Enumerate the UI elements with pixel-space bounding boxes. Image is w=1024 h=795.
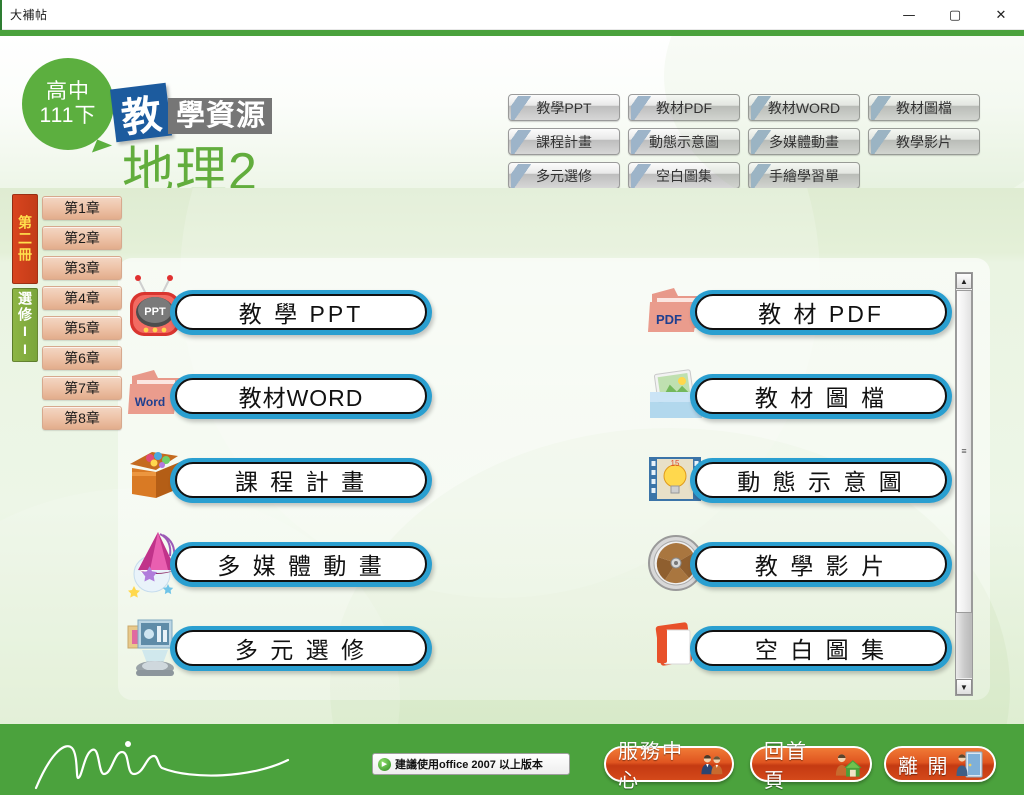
resource-item-animated-diagram[interactable]: 15 動 態 示 意 圖 <box>640 438 950 522</box>
quick-link-worksheet[interactable]: 手繪學習單 <box>748 162 860 188</box>
resource-pill: 空 白 圖 集 <box>690 626 952 671</box>
resource-pill: 教 材 PDF <box>690 290 952 335</box>
svg-text:PPT: PPT <box>144 306 166 318</box>
resource-label: 空 白 圖 集 <box>695 630 947 666</box>
maximize-button[interactable]: ▢ <box>932 0 978 30</box>
scroll-down-button[interactable]: ▼ <box>956 679 972 695</box>
resource-item-multimedia-animation[interactable]: 多 媒 體 動 畫 <box>120 522 430 606</box>
quick-link-elective[interactable]: 多元選修 <box>508 162 620 188</box>
resource-label: 教 學 PPT <box>175 294 427 330</box>
page-title: 地理2 <box>122 146 258 188</box>
sidebar-item-chapter-1[interactable]: 第1章 <box>42 196 122 220</box>
resource-row-2: Word 教材WORD <box>120 354 950 438</box>
slash-icon <box>871 96 893 120</box>
resource-label: 多 元 選 修 <box>175 630 427 666</box>
home-label: 回首頁 <box>764 735 828 793</box>
titlebar-accent <box>0 0 2 30</box>
resource-pill: 教 材 圖 檔 <box>690 374 952 419</box>
home-icon <box>833 749 862 779</box>
resource-button-grid: PPT 教 學 PPT PDF <box>120 270 950 690</box>
sidebar-item-chapter-5[interactable]: 第5章 <box>42 316 122 340</box>
quick-link-multimedia[interactable]: 多媒體動畫 <box>748 128 860 155</box>
nani-logo <box>22 734 322 790</box>
slash-icon <box>871 130 893 154</box>
sidebar-volume-tab-elective[interactable]: 選修II <box>12 288 38 362</box>
quick-links-row-1: 教學PPT 教材PDF 教材WORD 教材圖檔 <box>508 94 988 121</box>
quick-link-word[interactable]: 教材WORD <box>748 94 860 121</box>
minimize-button[interactable]: — <box>886 0 932 30</box>
window-titlebar: 大補帖 — ▢ ✕ <box>0 0 1024 30</box>
slash-icon <box>631 164 653 188</box>
resource-item-teaching-pdf[interactable]: PDF 教 材 PDF <box>640 270 950 354</box>
resource-label: 教 學 影 片 <box>695 546 947 582</box>
resource-pill: 動 態 示 意 圖 <box>690 458 952 503</box>
close-button[interactable]: ✕ <box>978 0 1024 30</box>
sidebar-item-chapter-4[interactable]: 第4章 <box>42 286 122 310</box>
home-button[interactable]: 回首頁 <box>750 746 872 782</box>
resource-pill: 多 媒 體 動 畫 <box>170 542 432 587</box>
slash-icon <box>631 96 653 120</box>
slash-icon <box>511 164 533 188</box>
resource-item-image-files[interactable]: 教 材 圖 檔 <box>640 354 950 438</box>
resource-label: 教材WORD <box>175 378 427 414</box>
grade-line-2: 111下 <box>40 104 97 128</box>
resource-label: 課 程 計 畫 <box>175 462 427 498</box>
slash-icon <box>511 130 533 154</box>
teaching-resources-label: 學資源 <box>168 98 272 134</box>
resource-row-5: 多 元 選 修 空 白 圖 集 <box>120 606 950 690</box>
content-scrollbar[interactable]: ▲ ≡ ▼ <box>955 272 973 696</box>
scrollbar-grip-icon: ≡ <box>961 448 966 456</box>
staff-icon <box>698 749 724 779</box>
quick-link-blank-images[interactable]: 空白圖集 <box>628 162 740 188</box>
play-icon: ▶ <box>378 758 391 771</box>
office-version-note: ▶ 建議使用office 2007 以上版本 <box>372 753 570 775</box>
resource-row-4: 多 媒 體 動 畫 <box>120 522 950 606</box>
sidebar-item-chapter-6[interactable]: 第6章 <box>42 346 122 370</box>
quick-links-grid: 教學PPT 教材PDF 教材WORD 教材圖檔 課程計畫 動態示意圖 <box>508 94 988 188</box>
quick-link-video[interactable]: 教學影片 <box>868 128 980 155</box>
office-version-text: 建議使用office 2007 以上版本 <box>395 756 543 772</box>
quick-links-row-3: 多元選修 空白圖集 手繪學習單 <box>508 162 988 188</box>
quick-link-ppt[interactable]: 教學PPT <box>508 94 620 121</box>
resource-item-teaching-video[interactable]: 教 學 影 片 <box>640 522 950 606</box>
resource-pill: 教 學 影 片 <box>690 542 952 587</box>
scrollbar-thumb[interactable]: ≡ <box>956 290 972 613</box>
resource-item-curriculum-plan[interactable]: 課 程 計 畫 <box>120 438 430 522</box>
exit-icon <box>955 749 985 779</box>
quick-link-images[interactable]: 教材圖檔 <box>868 94 980 121</box>
resource-pill: 課 程 計 畫 <box>170 458 432 503</box>
resource-row-3: 課 程 計 畫 <box>120 438 950 522</box>
scroll-up-button[interactable]: ▲ <box>956 273 972 289</box>
sidebar-item-chapter-7[interactable]: 第7章 <box>42 376 122 400</box>
service-center-button[interactable]: 服務中心 <box>604 746 734 782</box>
exit-button[interactable]: 離 開 <box>884 746 996 782</box>
exit-label: 離 開 <box>898 750 950 779</box>
service-center-label: 服務中心 <box>618 735 693 793</box>
quick-links-row-2: 課程計畫 動態示意圖 多媒體動畫 教學影片 <box>508 128 988 155</box>
quick-link-curriculum[interactable]: 課程計畫 <box>508 128 620 155</box>
grade-bubble: 高中 111下 <box>22 58 114 150</box>
svg-text:PDF: PDF <box>656 312 682 327</box>
resource-item-teaching-word[interactable]: Word 教材WORD <box>120 354 430 438</box>
resource-label: 教 材 PDF <box>695 294 947 330</box>
sidebar-volume-tab-2[interactable]: 第二冊 <box>12 194 38 284</box>
resource-label: 多 媒 體 動 畫 <box>175 546 427 582</box>
resource-row-1: PPT 教 學 PPT PDF <box>120 270 950 354</box>
resource-label: 動 態 示 意 圖 <box>695 462 947 498</box>
sidebar-item-chapter-2[interactable]: 第2章 <box>42 226 122 250</box>
grade-line-1: 高中 <box>46 80 90 104</box>
app-header: 高中 111下 教 學資源 地理2 教學PPT 教材PDF 教材WORD 教材圖… <box>0 36 1024 188</box>
svg-text:15: 15 <box>671 459 680 468</box>
teaching-badge-char: 教 <box>110 83 172 142</box>
quick-link-animated-diagram[interactable]: 動態示意圖 <box>628 128 740 155</box>
window-title: 大補帖 <box>10 6 48 23</box>
chapter-list: 第1章 第2章 第3章 第4章 第5章 第6章 第7章 第8章 <box>42 196 122 436</box>
resource-pill: 教 學 PPT <box>170 290 432 335</box>
sidebar-item-chapter-8[interactable]: 第8章 <box>42 406 122 430</box>
svg-text:Word: Word <box>135 395 165 409</box>
content-stage: 第二冊 選修II 第1章 第2章 第3章 第4章 第5章 第6章 第7章 第8章 <box>0 188 1024 724</box>
quick-link-pdf[interactable]: 教材PDF <box>628 94 740 121</box>
slash-icon <box>511 96 533 120</box>
resource-label: 教 材 圖 檔 <box>695 378 947 414</box>
resource-pill: 教材WORD <box>170 374 432 419</box>
resource-item-teaching-ppt[interactable]: PPT 教 學 PPT <box>120 270 430 354</box>
sidebar-item-chapter-3[interactable]: 第3章 <box>42 256 122 280</box>
window-controls: — ▢ ✕ <box>886 0 1024 30</box>
resource-item-elective[interactable]: 多 元 選 修 <box>120 606 430 690</box>
resource-pill: 多 元 選 修 <box>170 626 432 671</box>
resource-item-blank-images[interactable]: 空 白 圖 集 <box>640 606 950 690</box>
